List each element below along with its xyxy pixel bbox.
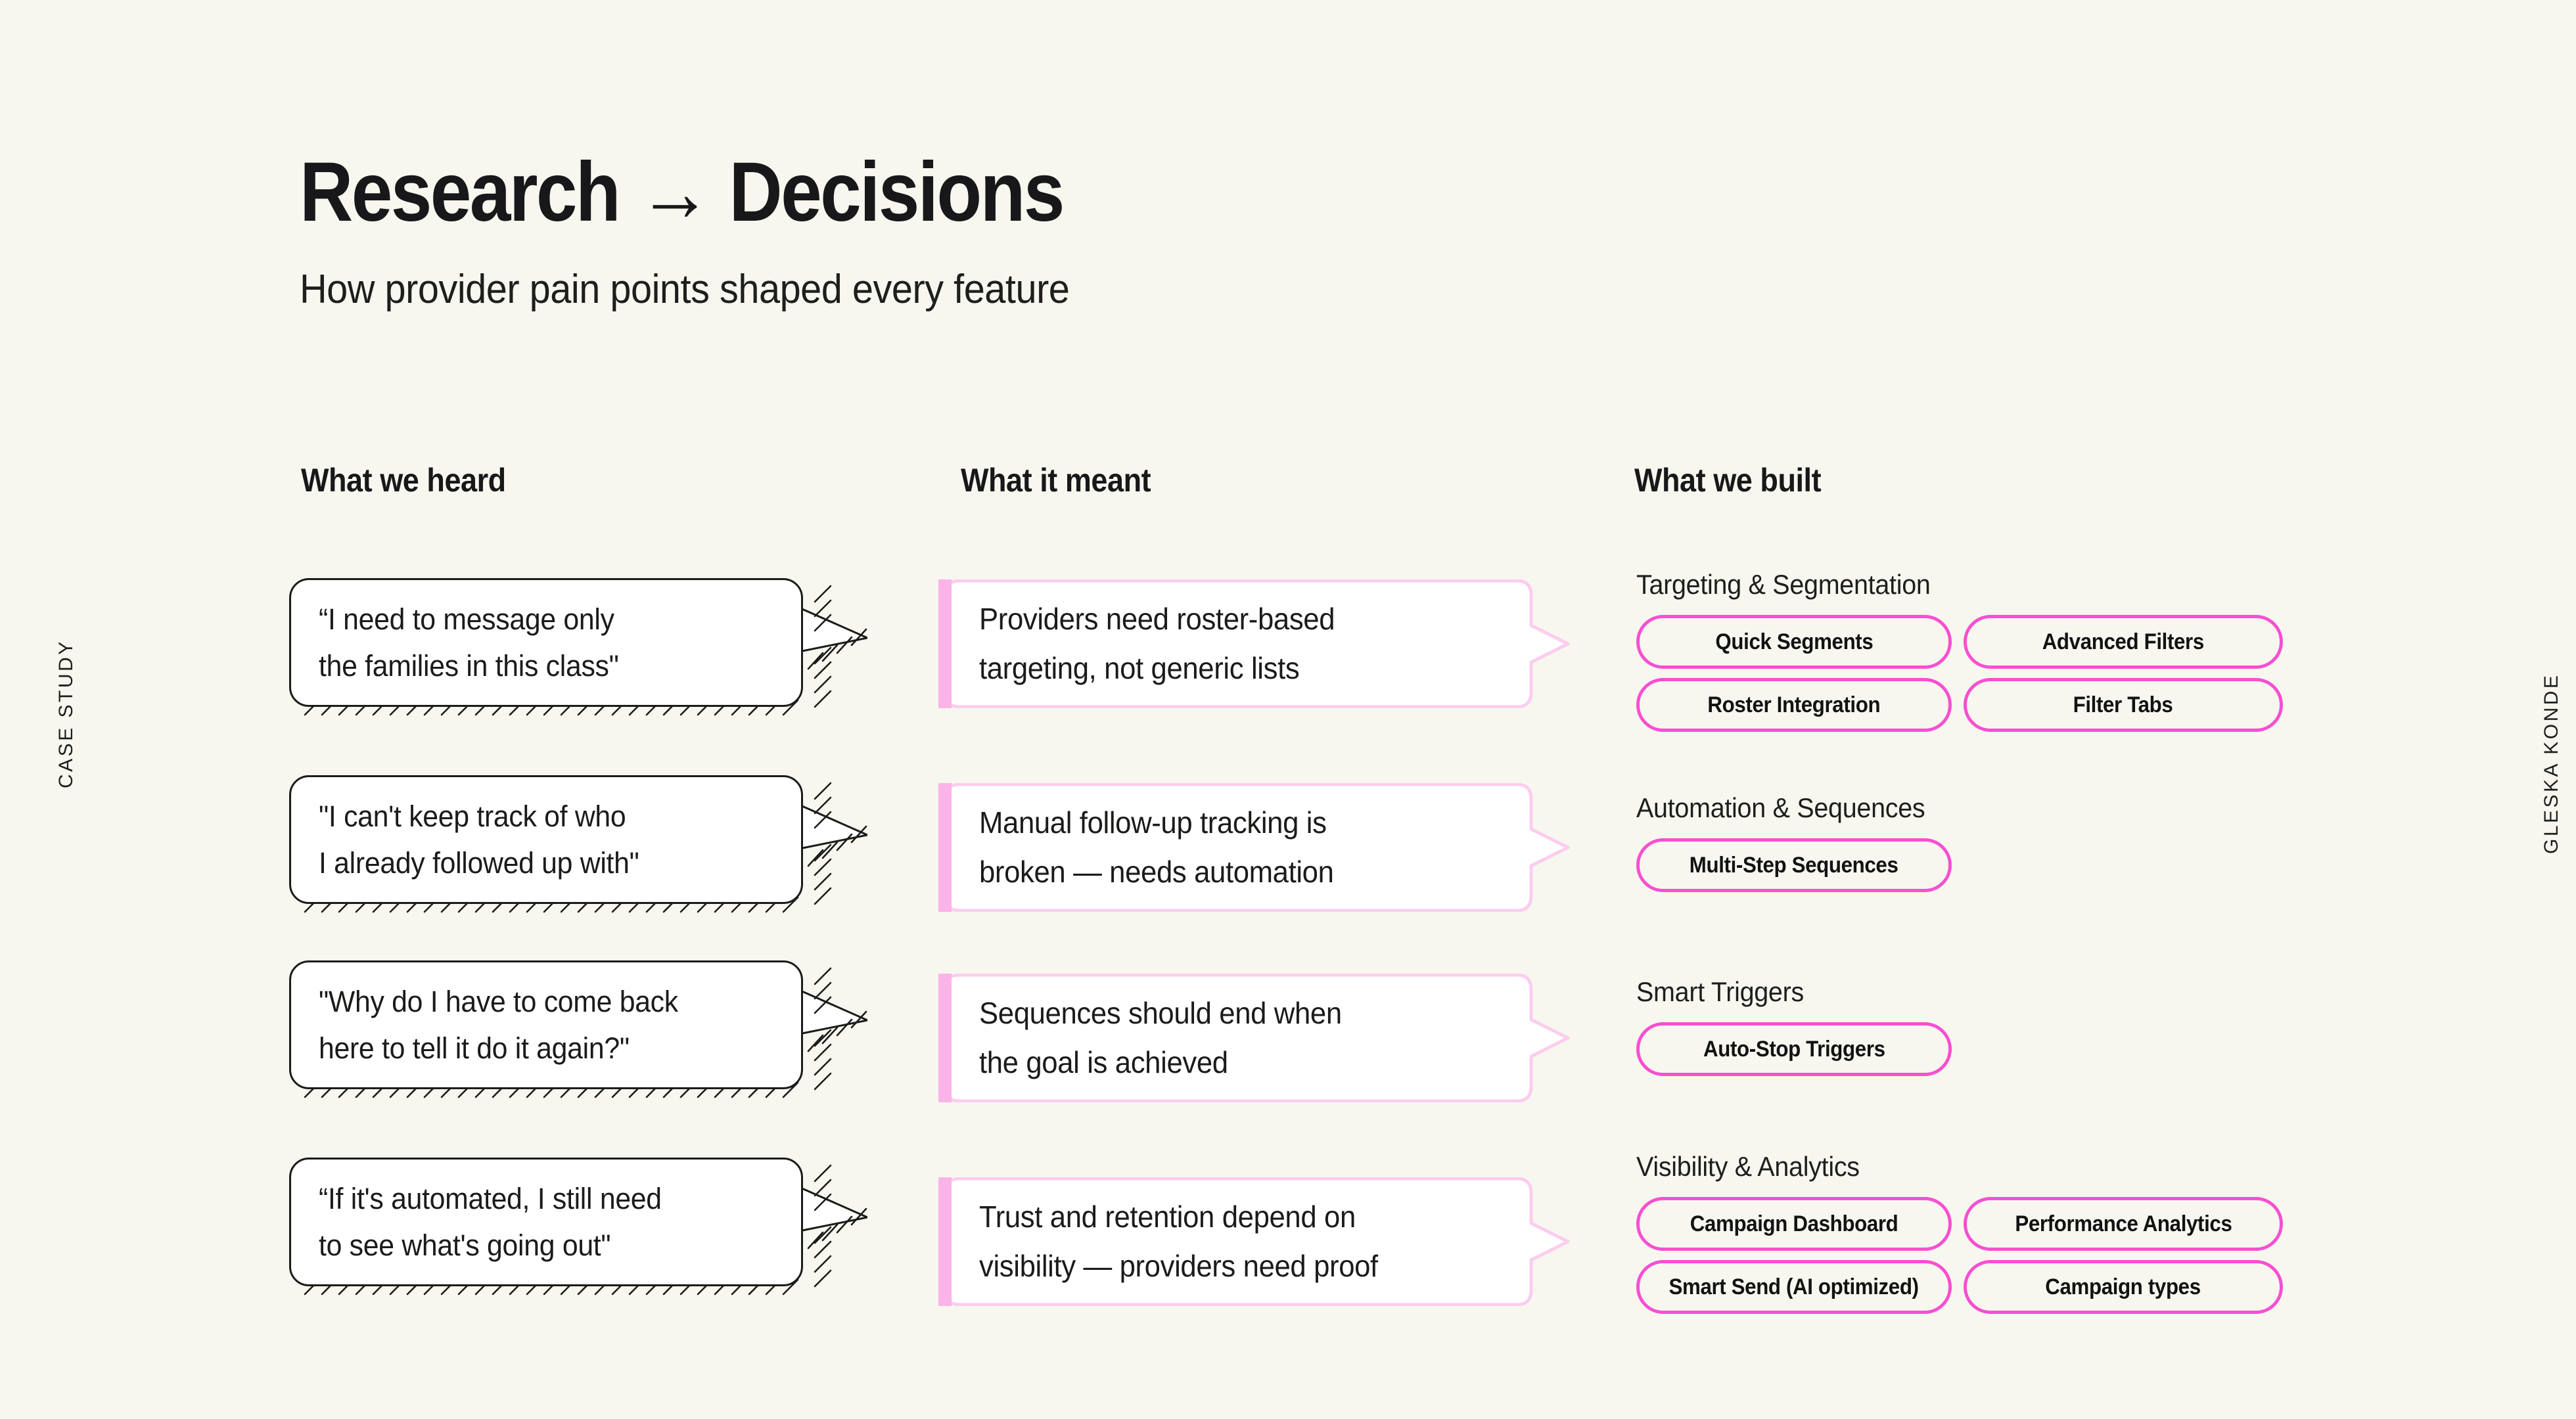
quote-line: "I can't keep track of who — [319, 793, 750, 840]
quote-line: “I need to message only — [319, 596, 750, 642]
meaning-card-accent-bar — [938, 974, 952, 1102]
page-title: Research → Decisions — [300, 150, 1063, 236]
quote-line: to see what's going out" — [319, 1222, 750, 1269]
feature-pill[interactable]: Auto-Stop Triggers — [1636, 1022, 1952, 1076]
feature-pill[interactable]: Smart Send (AI optimized) — [1636, 1260, 1952, 1314]
built-pill-rows: Multi-Step Sequences — [1636, 838, 2333, 892]
feature-pill-label: Performance Analytics — [2015, 1211, 2232, 1237]
meaning-line: Trust and retention depend on — [979, 1192, 1491, 1242]
meaning-card-text: Sequences should end whenthe goal is ach… — [979, 974, 1518, 1102]
brand-side-label: GLESKA KONDE — [2541, 673, 2563, 854]
meaning-line: the goal is achieved — [979, 1038, 1491, 1087]
built-group: Visibility & AnalyticsCampaign Dashboard… — [1636, 1151, 2333, 1314]
built-pill-row: Quick SegmentsAdvanced Filters — [1636, 615, 2333, 669]
feature-pill-label: Advanced Filters — [2042, 629, 2204, 655]
meaning-card-accent-bar — [938, 1177, 952, 1306]
meaning-card-text: Manual follow-up tracking isbroken — nee… — [979, 783, 1518, 912]
meaning-card-text: Trust and retention depend onvisibility … — [979, 1177, 1518, 1306]
built-group: Automation & SequencesMulti-Step Sequenc… — [1636, 792, 2333, 892]
meaning-card: Sequences should end whenthe goal is ach… — [938, 974, 1602, 1102]
feature-pill-label: Campaign Dashboard — [1690, 1211, 1898, 1237]
quote-bubble: "I can't keep track of whoI already foll… — [289, 775, 867, 904]
feature-pill[interactable]: Multi-Step Sequences — [1636, 838, 1952, 892]
built-pill-rows: Campaign DashboardPerformance AnalyticsS… — [1636, 1197, 2333, 1314]
feature-pill-label: Multi-Step Sequences — [1690, 853, 1898, 878]
built-group-title: Visibility & Analytics — [1636, 1151, 2291, 1182]
built-group: Targeting & SegmentationQuick SegmentsAd… — [1636, 569, 2333, 732]
case-study-side-label: CASE STUDY — [55, 639, 78, 788]
feature-pill-label: Campaign types — [2046, 1274, 2201, 1300]
quote-bubble-body: “I need to message onlythe families in t… — [289, 578, 803, 707]
column-heading-meant: What it meant — [961, 461, 1151, 499]
built-pill-row: Multi-Step Sequences — [1636, 838, 2333, 892]
built-pill-row: Auto-Stop Triggers — [1636, 1022, 2333, 1076]
feature-pill[interactable]: Quick Segments — [1636, 615, 1952, 669]
quote-line: the families in this class" — [319, 642, 750, 689]
built-pill-rows: Quick SegmentsAdvanced FiltersRoster Int… — [1636, 615, 2333, 732]
built-group-title: Smart Triggers — [1636, 976, 2291, 1008]
feature-pill-label: Auto-Stop Triggers — [1703, 1037, 1885, 1062]
header: Research → Decisions How provider pain p… — [300, 150, 1167, 313]
feature-pill-label: Smart Send (AI optimized) — [1669, 1274, 1919, 1300]
meaning-line: broken — needs automation — [979, 847, 1491, 897]
meaning-card-text: Providers need roster-basedtargeting, no… — [979, 579, 1518, 708]
feature-pill[interactable]: Campaign types — [1964, 1260, 2283, 1314]
quote-line: I already followed up with" — [319, 840, 750, 886]
meaning-card: Manual follow-up tracking isbroken — nee… — [938, 783, 1602, 912]
quote-line: “If it's automated, I still need — [319, 1175, 750, 1222]
feature-pill[interactable]: Filter Tabs — [1964, 678, 2283, 732]
built-pill-row: Smart Send (AI optimized)Campaign types — [1636, 1260, 2333, 1314]
quote-bubble-body: “If it's automated, I still needto see w… — [289, 1158, 803, 1286]
quote-line: "Why do I have to come back — [319, 978, 750, 1025]
column-heading-built: What we built — [1634, 461, 1821, 499]
built-pill-row: Campaign DashboardPerformance Analytics — [1636, 1197, 2333, 1251]
meaning-line: targeting, not generic lists — [979, 644, 1491, 693]
meaning-line: Manual follow-up tracking is — [979, 798, 1491, 847]
built-pill-rows: Auto-Stop Triggers — [1636, 1022, 2333, 1076]
meaning-card-accent-bar — [938, 579, 952, 708]
built-pill-row: Roster IntegrationFilter Tabs — [1636, 678, 2333, 732]
slide-root: CASE STUDY GLESKA KONDE Research → Decis… — [0, 0, 2576, 1419]
feature-pill[interactable]: Campaign Dashboard — [1636, 1197, 1952, 1251]
built-group-title: Automation & Sequences — [1636, 792, 2291, 824]
quote-bubble: “If it's automated, I still needto see w… — [289, 1158, 867, 1286]
meaning-line: visibility — providers need proof — [979, 1242, 1491, 1291]
quote-bubble-body: "I can't keep track of whoI already foll… — [289, 775, 803, 904]
feature-pill-label: Roster Integration — [1708, 692, 1881, 718]
meaning-card: Trust and retention depend onvisibility … — [938, 1177, 1602, 1306]
meaning-card-accent-bar — [938, 783, 952, 912]
feature-pill[interactable]: Roster Integration — [1636, 678, 1952, 732]
page-subtitle: How provider pain points shaped every fe… — [300, 266, 1107, 313]
feature-pill-label: Filter Tabs — [2073, 692, 2173, 718]
built-group: Smart TriggersAuto-Stop Triggers — [1636, 976, 2333, 1076]
meaning-line: Sequences should end when — [979, 989, 1491, 1038]
feature-pill[interactable]: Advanced Filters — [1964, 615, 2283, 669]
meaning-line: Providers need roster-based — [979, 595, 1491, 644]
built-group-title: Targeting & Segmentation — [1636, 569, 2291, 600]
quote-bubble: "Why do I have to come backhere to tell … — [289, 960, 867, 1089]
quote-bubble-body: "Why do I have to come backhere to tell … — [289, 960, 803, 1089]
feature-pill[interactable]: Performance Analytics — [1964, 1197, 2283, 1251]
quote-line: here to tell it do it again?" — [319, 1025, 750, 1071]
feature-pill-label: Quick Segments — [1715, 629, 1873, 655]
meaning-card: Providers need roster-basedtargeting, no… — [938, 579, 1602, 708]
column-heading-heard: What we heard — [301, 461, 506, 499]
quote-bubble: “I need to message onlythe families in t… — [289, 578, 867, 707]
